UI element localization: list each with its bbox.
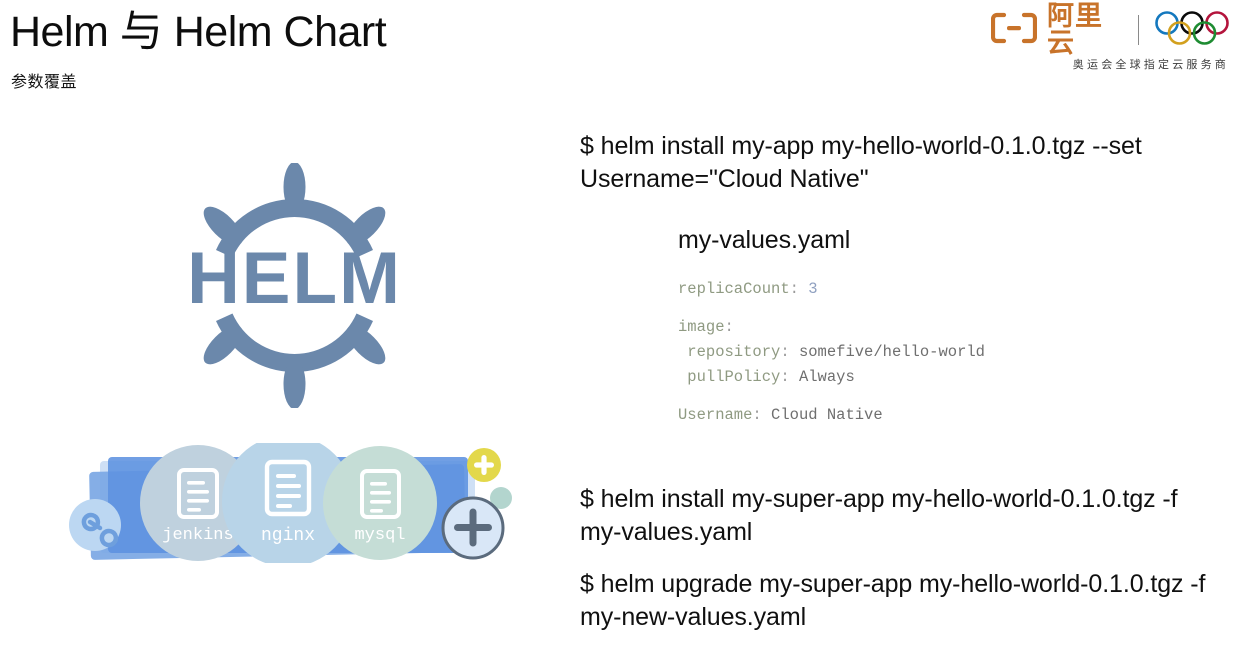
brand-tagline: 奥运会全球指定云服务商 bbox=[991, 56, 1231, 72]
yaml-blank-line bbox=[678, 302, 1158, 315]
yaml-filename: my-values.yaml bbox=[678, 226, 1158, 255]
helm-wheel-logo: HELM bbox=[152, 163, 437, 408]
helm-charts-illustration: jenkins nginx bbox=[62, 443, 522, 563]
yaml-code: replicaCount: 3image: repository: somefi… bbox=[678, 277, 1158, 429]
yaml-example: my-values.yaml replicaCount: 3image: rep… bbox=[678, 226, 1158, 429]
command-install-set: $ helm install my-app my-hello-world-0.1… bbox=[580, 130, 1180, 196]
yaml-colon: : bbox=[725, 318, 734, 336]
brand-row: 阿里云 bbox=[991, 8, 1231, 52]
yaml-key: replicaCount bbox=[678, 280, 790, 298]
yaml-line: pullPolicy: Always bbox=[678, 365, 1158, 390]
yaml-blank-line bbox=[678, 390, 1158, 403]
yaml-colon: : bbox=[752, 406, 761, 424]
yaml-line: repository: somefive/hello-world bbox=[678, 340, 1158, 365]
brand-divider bbox=[1138, 15, 1139, 45]
add-badge-icon bbox=[467, 448, 501, 482]
chart-label-jenkins: jenkins bbox=[162, 526, 233, 545]
alibaba-cloud-mark-icon bbox=[991, 12, 1037, 49]
chart-label-nginx: nginx bbox=[261, 526, 315, 546]
chart-circle-mysql: mysql bbox=[323, 446, 437, 560]
yaml-key: pullPolicy bbox=[678, 368, 780, 386]
yaml-value: 3 bbox=[799, 280, 818, 298]
olympic-rings-icon bbox=[1153, 11, 1231, 50]
add-chart-icon bbox=[443, 498, 503, 558]
link-chain-icon bbox=[69, 499, 121, 551]
yaml-line: Username: Cloud Native bbox=[678, 403, 1158, 428]
page-subtitle: 参数覆盖 bbox=[11, 68, 77, 92]
yaml-line: image: bbox=[678, 315, 1158, 340]
yaml-colon: : bbox=[780, 368, 789, 386]
yaml-value: Always bbox=[790, 368, 855, 386]
brand-name: 阿里云 bbox=[1047, 3, 1124, 57]
yaml-colon: : bbox=[780, 343, 789, 361]
yaml-colon: : bbox=[790, 280, 799, 298]
yaml-line: replicaCount: 3 bbox=[678, 277, 1158, 302]
yaml-value: Cloud Native bbox=[762, 406, 883, 424]
yaml-key: repository bbox=[678, 343, 780, 361]
command-install-values-file: $ helm install my-super-app my-hello-wor… bbox=[580, 483, 1200, 549]
page-title: Helm 与 Helm Chart bbox=[10, 8, 386, 57]
command-upgrade-values-file: $ helm upgrade my-super-app my-hello-wor… bbox=[580, 568, 1220, 634]
helm-logo-text: HELM bbox=[187, 238, 402, 319]
yaml-key: image bbox=[678, 318, 725, 336]
brand-logo: 阿里云 奥运会全球指定云服务商 bbox=[991, 8, 1231, 74]
chart-label-mysql: mysql bbox=[354, 526, 405, 545]
yaml-key: Username bbox=[678, 406, 752, 424]
slide: Helm 与 Helm Chart 参数覆盖 阿里云 bbox=[0, 0, 1237, 646]
yaml-value: somefive/hello-world bbox=[790, 343, 985, 361]
